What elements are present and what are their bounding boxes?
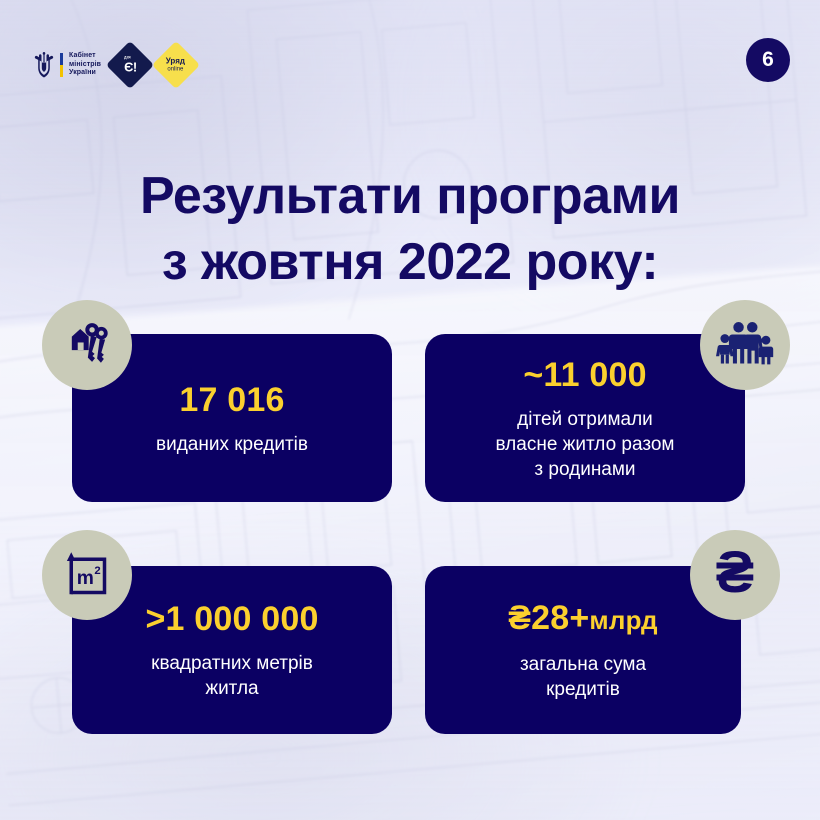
house-keys-icon	[60, 318, 114, 372]
cabinet-of-ministers-logo: Кабінет міністрів України	[34, 52, 101, 78]
diia-logo-inner: ДІЯ Є!	[124, 56, 137, 73]
diia-logo[interactable]: ДІЯ Є!	[106, 41, 154, 89]
stat-value-square-meters: >1 000 000	[145, 599, 318, 639]
house-keys-icon-badge	[42, 300, 132, 390]
page-title-line-1: Результати програми	[60, 163, 760, 229]
family-icon-badge	[700, 300, 790, 390]
page-title-line-2: з жовтня 2022 року:	[60, 229, 760, 295]
uryad-online-logo[interactable]: Уряд online	[152, 41, 200, 89]
svg-text:2: 2	[94, 565, 100, 577]
page-title: Результати програми з жовтня 2022 року:	[0, 163, 820, 295]
stat-label-children: дітей отримали власне житло разом з роди…	[496, 407, 675, 482]
hryvnia-icon: ₴	[716, 544, 755, 602]
cabinet-of-ministers-label: Кабінет міністрів України	[69, 52, 101, 77]
stat-card-children: ~11 000 дітей отримали власне житло разо…	[425, 334, 745, 502]
square-meter-icon-badge: m 2	[42, 530, 132, 620]
stat-value-children: ~11 000	[523, 355, 646, 395]
family-icon	[716, 318, 774, 372]
stat-value-credits: 17 016	[179, 380, 284, 420]
online-label: online	[166, 66, 185, 72]
stat-value-amount-number: ₴28+	[508, 599, 589, 637]
stat-value-total-amount: ₴28+млрд	[508, 598, 657, 640]
square-meter-icon: m 2	[59, 547, 115, 603]
hryvnia-icon-badge: ₴	[690, 530, 780, 620]
stat-value-amount-unit: млрд	[589, 605, 657, 635]
logo-divider	[60, 53, 63, 77]
header-logo-row: Кабінет міністрів України ДІЯ Є! Уряд on…	[34, 48, 193, 82]
diia-label: Є!	[124, 60, 137, 75]
stat-label-total-amount: загальна сума кредитів	[520, 652, 646, 702]
stat-label-square-meters: квадратних метрів житла	[151, 651, 313, 701]
ukraine-trident-icon	[34, 52, 54, 78]
uryad-label: Уряд	[166, 57, 185, 65]
svg-text:m: m	[77, 568, 94, 589]
stat-label-credits: виданих кредитів	[156, 432, 308, 457]
slide-root: Кабінет міністрів України ДІЯ Є! Уряд on…	[0, 0, 820, 820]
page-number-badge: 6	[746, 38, 790, 82]
uryad-online-logo-inner: Уряд online	[166, 57, 185, 72]
